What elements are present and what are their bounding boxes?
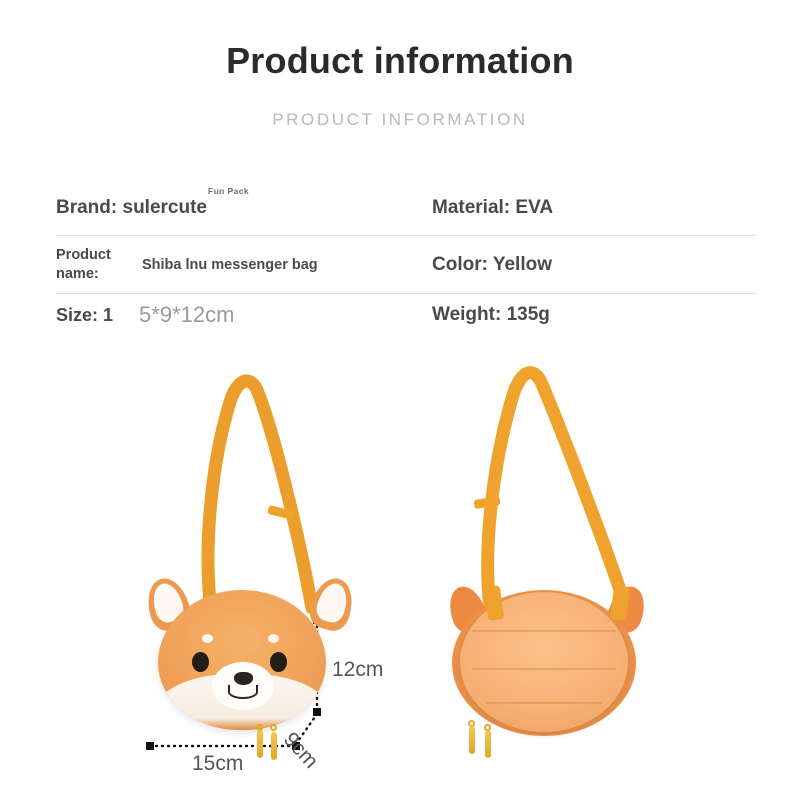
spec-cell-brand: Brand: sulercute Fun Pack [56, 197, 406, 219]
dog-muzzle-icon [212, 662, 274, 710]
dog-eye-left-icon [192, 652, 209, 672]
color-value: Color: Yellow [432, 254, 552, 276]
zipper-pull [469, 726, 475, 754]
zipper-pull [485, 730, 491, 758]
dog-smile-icon [228, 685, 258, 699]
spec-cell-weight: Weight: 135g [406, 304, 756, 326]
dog-eye-right-icon [270, 652, 287, 672]
brand-value: Brand: sulercute [56, 197, 207, 218]
spec-cell-product-name: Product name: Shiba lnu messenger bag [56, 246, 406, 283]
dog-face-front [158, 590, 326, 730]
dog-nose-icon [234, 672, 253, 685]
product-image-front-view [130, 340, 410, 790]
product-name-value: Shiba lnu messenger bag [142, 256, 318, 275]
size-value: 5*9*12cm [139, 302, 234, 328]
material-value: Material: EVA [432, 197, 553, 219]
zipper-ring [270, 724, 277, 731]
bag-back-panel [460, 592, 628, 732]
spec-cell-size: Size: 1 5*9*12cm [56, 302, 406, 328]
zipper-pull [257, 730, 263, 758]
spec-cell-material: Material: EVA [406, 197, 756, 219]
table-row: Product name: Shiba lnu messenger bag Co… [56, 236, 756, 294]
table-row: Size: 1 5*9*12cm Weight: 135g [56, 294, 756, 336]
product-image-back-view [430, 340, 710, 790]
size-label: Size: 1 [56, 305, 113, 326]
spec-table: Brand: sulercute Fun Pack Material: EVA … [56, 180, 756, 336]
weight-value: Weight: 135g [432, 304, 550, 326]
brand-superscript-label: Fun Pack [208, 186, 249, 196]
table-row: Brand: sulercute Fun Pack Material: EVA [56, 180, 756, 236]
zipper-pull [271, 732, 277, 760]
spec-cell-color: Color: Yellow [406, 254, 756, 276]
product-name-label: Product name: [56, 246, 142, 283]
page-subtitle: PRODUCT INFORMATION [0, 110, 800, 130]
page-title: Product information [0, 40, 800, 82]
product-image-gallery [0, 340, 800, 800]
